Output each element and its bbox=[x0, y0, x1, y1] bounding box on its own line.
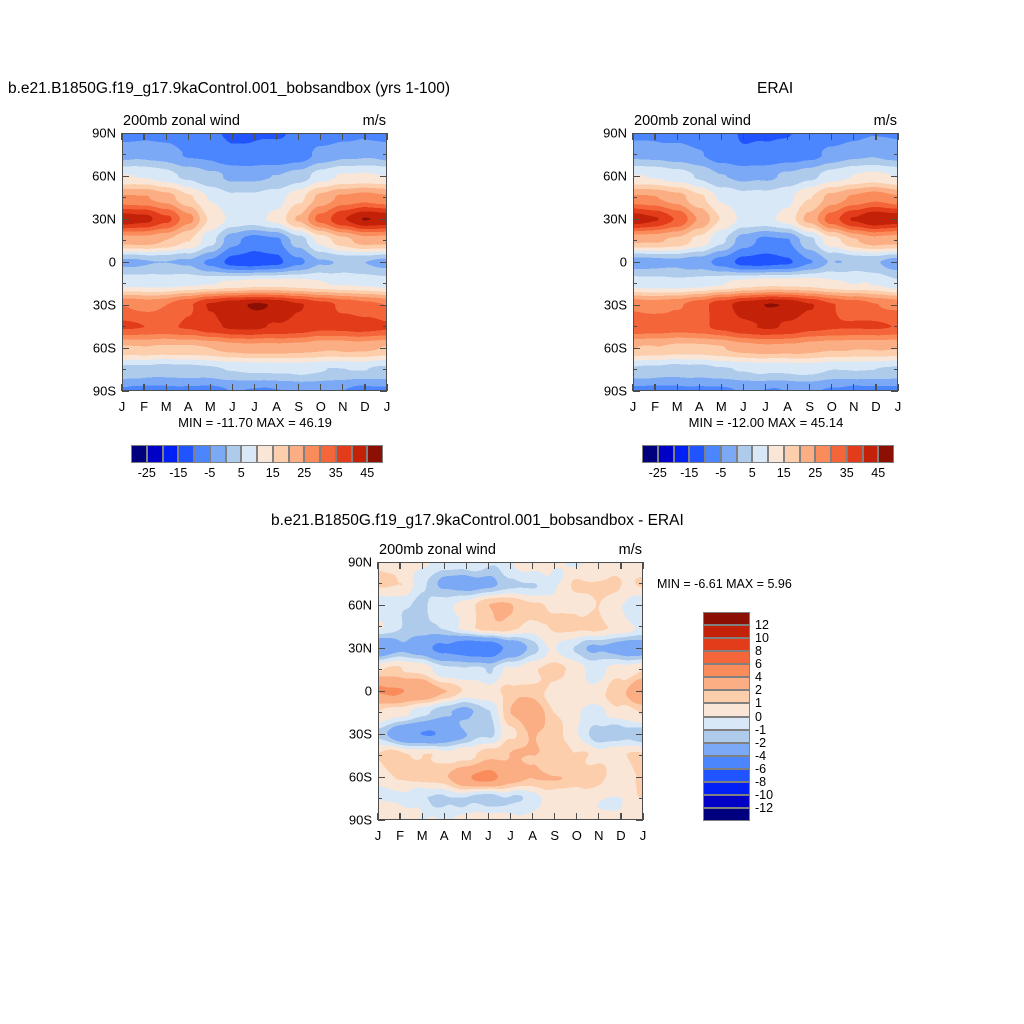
y-axis-label: 30S bbox=[591, 298, 627, 313]
panel-model-colorbar[interactable] bbox=[131, 445, 383, 463]
x-tick bbox=[510, 813, 511, 820]
y-axis-label: 0 bbox=[336, 684, 372, 699]
x-axis-label: A bbox=[695, 399, 704, 414]
y-tick bbox=[891, 305, 898, 306]
x-tick bbox=[488, 562, 489, 569]
x-axis-label: S bbox=[294, 399, 303, 414]
y-tick bbox=[636, 648, 643, 649]
y-axis-label: 60S bbox=[336, 770, 372, 785]
x-tick bbox=[444, 562, 445, 569]
y-minor-tick bbox=[894, 154, 898, 155]
y-axis-label: 30S bbox=[336, 727, 372, 742]
x-tick bbox=[677, 384, 678, 391]
x-tick bbox=[721, 384, 722, 391]
colorbar-tick-label: 12 bbox=[755, 618, 769, 632]
y-tick bbox=[633, 219, 640, 220]
x-tick bbox=[276, 133, 277, 140]
y-minor-tick bbox=[383, 240, 387, 241]
y-tick bbox=[891, 219, 898, 220]
colorbar-tick-label: 25 bbox=[297, 466, 311, 480]
colorbar-tick-label: 0 bbox=[755, 710, 762, 724]
y-tick bbox=[122, 176, 129, 177]
colorbar-cell[interactable] bbox=[703, 782, 750, 795]
x-tick bbox=[654, 384, 655, 391]
colorbar-cell[interactable] bbox=[703, 808, 750, 821]
colorbar-tick-label: 35 bbox=[329, 466, 343, 480]
y-tick bbox=[378, 562, 385, 563]
y-tick bbox=[378, 820, 385, 821]
y-tick bbox=[891, 176, 898, 177]
colorbar-cell[interactable] bbox=[273, 445, 289, 463]
colorbar-cell[interactable] bbox=[831, 445, 847, 463]
y-axis-label: 30N bbox=[80, 212, 116, 227]
y-tick bbox=[633, 133, 640, 134]
y-minor-tick bbox=[378, 583, 382, 584]
x-tick bbox=[677, 133, 678, 140]
colorbar-cell[interactable] bbox=[703, 612, 750, 625]
y-tick bbox=[636, 691, 643, 692]
colorbar-tick-label: -25 bbox=[649, 466, 667, 480]
colorbar-tick-label: -15 bbox=[169, 466, 187, 480]
x-tick bbox=[188, 133, 189, 140]
x-tick bbox=[422, 562, 423, 569]
colorbar-tick-label: -2 bbox=[755, 736, 766, 750]
x-tick bbox=[853, 384, 854, 391]
x-tick bbox=[598, 813, 599, 820]
y-tick bbox=[122, 348, 129, 349]
colorbar-cell[interactable] bbox=[721, 445, 737, 463]
panel-obs: ERAI 200mb zonal wind m/s 90N60N30N030S6… bbox=[512, 0, 1024, 500]
x-tick bbox=[377, 562, 378, 569]
colorbar-cell[interactable] bbox=[658, 445, 674, 463]
x-tick bbox=[809, 133, 810, 140]
x-tick bbox=[121, 133, 122, 140]
y-tick bbox=[378, 734, 385, 735]
colorbar-cell[interactable] bbox=[336, 445, 352, 463]
y-tick bbox=[122, 219, 129, 220]
y-tick bbox=[378, 648, 385, 649]
y-tick bbox=[633, 348, 640, 349]
x-tick bbox=[620, 813, 621, 820]
x-axis-label: J bbox=[375, 828, 382, 843]
x-tick bbox=[188, 384, 189, 391]
y-minor-tick bbox=[639, 583, 643, 584]
colorbar-cell[interactable] bbox=[784, 445, 800, 463]
colorbar-tick-label: 5 bbox=[238, 466, 245, 480]
x-tick bbox=[743, 384, 744, 391]
x-axis-label: F bbox=[651, 399, 659, 414]
panel-obs-contour bbox=[633, 133, 898, 391]
y-minor-tick bbox=[378, 755, 382, 756]
panel-diff-title: b.e21.B1850G.f19_g17.9kaControl.001_bobs… bbox=[271, 512, 684, 530]
x-axis-label: J bbox=[895, 399, 902, 414]
panel-model-title: b.e21.B1850G.f19_g17.9kaControl.001_bobs… bbox=[8, 80, 450, 98]
y-axis-label: 60S bbox=[80, 341, 116, 356]
colorbar-tick-label: -8 bbox=[755, 775, 766, 789]
x-tick bbox=[232, 133, 233, 140]
x-axis-label: M bbox=[161, 399, 172, 414]
y-minor-tick bbox=[639, 755, 643, 756]
colorbar-cell[interactable] bbox=[210, 445, 226, 463]
colorbar-tick-label: 10 bbox=[755, 631, 769, 645]
colorbar-cell[interactable] bbox=[703, 743, 750, 756]
x-tick bbox=[298, 384, 299, 391]
x-tick bbox=[166, 133, 167, 140]
y-tick bbox=[122, 391, 129, 392]
y-minor-tick bbox=[378, 669, 382, 670]
panel-diff-colorbar[interactable] bbox=[703, 612, 750, 821]
x-tick bbox=[875, 133, 876, 140]
colorbar-cell[interactable] bbox=[689, 445, 705, 463]
panel-diff-minmax: MIN = -6.61 MAX = 5.96 bbox=[657, 577, 792, 591]
x-tick bbox=[386, 133, 387, 140]
x-tick bbox=[466, 562, 467, 569]
x-axis-label: D bbox=[360, 399, 369, 414]
colorbar-tick-label: 45 bbox=[871, 466, 885, 480]
x-tick bbox=[210, 133, 211, 140]
colorbar-cell[interactable] bbox=[703, 690, 750, 703]
y-minor-tick bbox=[639, 798, 643, 799]
x-axis-label: M bbox=[461, 828, 472, 843]
y-axis-label: 60S bbox=[591, 341, 627, 356]
y-axis-label: 90S bbox=[80, 384, 116, 399]
panel-obs-colorbar-labels: -25-15-5515253545 bbox=[642, 466, 894, 482]
panel-model-plot: 200mb zonal wind m/s 90N60N30N030S60S90S… bbox=[122, 133, 387, 391]
x-tick bbox=[598, 562, 599, 569]
x-tick bbox=[765, 384, 766, 391]
x-axis-label: F bbox=[396, 828, 404, 843]
y-tick bbox=[380, 262, 387, 263]
y-tick bbox=[633, 262, 640, 263]
y-axis-label: 60N bbox=[591, 169, 627, 184]
x-axis-label: A bbox=[440, 828, 449, 843]
x-axis-label: A bbox=[528, 828, 537, 843]
x-tick bbox=[632, 384, 633, 391]
colorbar-cell[interactable] bbox=[768, 445, 784, 463]
y-minor-tick bbox=[378, 712, 382, 713]
x-tick bbox=[576, 813, 577, 820]
panel-obs-colorbar[interactable] bbox=[642, 445, 894, 463]
colorbar-tick-label: 25 bbox=[808, 466, 822, 480]
panel-obs-header-right: m/s bbox=[874, 113, 897, 129]
y-axis-label: 90N bbox=[591, 126, 627, 141]
colorbar-cell[interactable] bbox=[241, 445, 257, 463]
y-minor-tick bbox=[639, 712, 643, 713]
colorbar-cell[interactable] bbox=[257, 445, 273, 463]
x-axis-label: O bbox=[827, 399, 837, 414]
colorbar-tick-label: 15 bbox=[777, 466, 791, 480]
x-tick bbox=[721, 133, 722, 140]
x-axis-label: M bbox=[205, 399, 216, 414]
y-minor-tick bbox=[122, 369, 126, 370]
x-axis-label: O bbox=[316, 399, 326, 414]
colorbar-tick-label: 45 bbox=[360, 466, 374, 480]
panel-model-colorbar-labels: -25-15-5515253545 bbox=[131, 466, 383, 482]
y-minor-tick bbox=[894, 197, 898, 198]
x-tick bbox=[576, 562, 577, 569]
x-axis-label: J bbox=[630, 399, 637, 414]
x-tick bbox=[642, 813, 643, 820]
x-axis-label: A bbox=[783, 399, 792, 414]
colorbar-cell[interactable] bbox=[304, 445, 320, 463]
x-axis-label: N bbox=[849, 399, 858, 414]
y-tick bbox=[380, 305, 387, 306]
y-tick bbox=[633, 305, 640, 306]
x-axis-label: M bbox=[672, 399, 683, 414]
colorbar-cell[interactable] bbox=[737, 445, 753, 463]
x-tick bbox=[554, 813, 555, 820]
y-tick bbox=[378, 777, 385, 778]
x-tick bbox=[143, 133, 144, 140]
y-minor-tick bbox=[122, 326, 126, 327]
y-minor-tick bbox=[633, 240, 637, 241]
y-minor-tick bbox=[383, 154, 387, 155]
x-axis-label: M bbox=[716, 399, 727, 414]
colorbar-tick-label: -10 bbox=[755, 788, 773, 802]
x-axis-label: A bbox=[272, 399, 281, 414]
x-tick bbox=[210, 384, 211, 391]
colorbar-tick-label: 5 bbox=[749, 466, 756, 480]
colorbar-tick-label: 6 bbox=[755, 657, 762, 671]
y-minor-tick bbox=[894, 240, 898, 241]
colorbar-tick-label: -25 bbox=[138, 466, 156, 480]
colorbar-cell[interactable] bbox=[320, 445, 336, 463]
colorbar-cell[interactable] bbox=[705, 445, 721, 463]
colorbar-cell[interactable] bbox=[642, 445, 658, 463]
colorbar-cell[interactable] bbox=[703, 651, 750, 664]
x-axis-label: J bbox=[384, 399, 391, 414]
y-minor-tick bbox=[383, 369, 387, 370]
x-tick bbox=[897, 384, 898, 391]
colorbar-cell[interactable] bbox=[178, 445, 194, 463]
colorbar-cell[interactable] bbox=[815, 445, 831, 463]
x-tick bbox=[320, 133, 321, 140]
colorbar-tick-label: 4 bbox=[755, 670, 762, 684]
x-axis-label: O bbox=[572, 828, 582, 843]
y-minor-tick bbox=[383, 283, 387, 284]
y-minor-tick bbox=[378, 798, 382, 799]
panel-obs-plot: 200mb zonal wind m/s 90N60N30N030S60S90S… bbox=[633, 133, 898, 391]
colorbar-cell[interactable] bbox=[703, 730, 750, 743]
x-axis-label: F bbox=[140, 399, 148, 414]
colorbar-cell[interactable] bbox=[703, 795, 750, 808]
x-tick bbox=[620, 562, 621, 569]
x-tick bbox=[488, 813, 489, 820]
x-tick bbox=[377, 813, 378, 820]
panel-diff-header-right: m/s bbox=[619, 542, 642, 558]
x-tick bbox=[386, 384, 387, 391]
colorbar-tick-label: -12 bbox=[755, 801, 773, 815]
x-axis-label: S bbox=[550, 828, 559, 843]
colorbar-cell[interactable] bbox=[163, 445, 179, 463]
x-axis-label: J bbox=[119, 399, 126, 414]
colorbar-cell[interactable] bbox=[367, 445, 383, 463]
x-tick bbox=[422, 813, 423, 820]
y-axis-label: 90N bbox=[80, 126, 116, 141]
y-minor-tick bbox=[639, 626, 643, 627]
colorbar-cell[interactable] bbox=[289, 445, 305, 463]
y-axis-label: 90S bbox=[336, 813, 372, 828]
x-tick bbox=[342, 384, 343, 391]
y-tick bbox=[122, 133, 129, 134]
x-tick bbox=[166, 384, 167, 391]
panel-obs-minmax: MIN = -12.00 MAX = 45.14 bbox=[689, 415, 844, 430]
y-axis-label: 30N bbox=[591, 212, 627, 227]
y-tick bbox=[122, 262, 129, 263]
y-minor-tick bbox=[383, 197, 387, 198]
y-tick bbox=[636, 605, 643, 606]
x-axis-label: J bbox=[740, 399, 747, 414]
y-minor-tick bbox=[639, 669, 643, 670]
colorbar-cell[interactable] bbox=[863, 445, 879, 463]
y-minor-tick bbox=[894, 326, 898, 327]
y-tick bbox=[378, 691, 385, 692]
colorbar-cell[interactable] bbox=[703, 625, 750, 638]
colorbar-cell[interactable] bbox=[703, 664, 750, 677]
x-tick bbox=[532, 562, 533, 569]
y-tick bbox=[380, 219, 387, 220]
x-axis-label: A bbox=[184, 399, 193, 414]
x-tick bbox=[298, 133, 299, 140]
x-tick bbox=[853, 133, 854, 140]
colorbar-tick-label: 15 bbox=[266, 466, 280, 480]
y-minor-tick bbox=[383, 326, 387, 327]
panel-obs-header-left: 200mb zonal wind bbox=[634, 113, 751, 129]
x-axis-label: J bbox=[640, 828, 647, 843]
x-tick bbox=[642, 562, 643, 569]
y-tick bbox=[122, 305, 129, 306]
colorbar-tick-label: 8 bbox=[755, 644, 762, 658]
y-tick bbox=[891, 348, 898, 349]
x-axis-label: J bbox=[485, 828, 492, 843]
y-axis-label: 0 bbox=[80, 255, 116, 270]
y-minor-tick bbox=[633, 283, 637, 284]
y-minor-tick bbox=[122, 154, 126, 155]
y-minor-tick bbox=[633, 197, 637, 198]
x-tick bbox=[554, 562, 555, 569]
y-minor-tick bbox=[894, 283, 898, 284]
y-tick bbox=[633, 391, 640, 392]
x-tick bbox=[320, 384, 321, 391]
y-tick bbox=[636, 777, 643, 778]
y-axis-label: 90N bbox=[336, 555, 372, 570]
colorbar-tick-label: -5 bbox=[204, 466, 215, 480]
x-axis-label: J bbox=[229, 399, 236, 414]
x-tick bbox=[699, 384, 700, 391]
panel-model-header-right: m/s bbox=[363, 113, 386, 129]
colorbar-cell[interactable] bbox=[878, 445, 894, 463]
x-axis-label: J bbox=[507, 828, 514, 843]
panel-model-minmax: MIN = -11.70 MAX = 46.19 bbox=[178, 415, 332, 430]
colorbar-cell[interactable] bbox=[703, 717, 750, 730]
x-axis-label: D bbox=[616, 828, 625, 843]
x-tick bbox=[232, 384, 233, 391]
colorbar-cell[interactable] bbox=[800, 445, 816, 463]
y-axis-label: 60N bbox=[336, 598, 372, 613]
x-tick bbox=[254, 384, 255, 391]
x-tick bbox=[364, 133, 365, 140]
y-tick bbox=[380, 176, 387, 177]
y-tick bbox=[636, 734, 643, 735]
x-tick bbox=[787, 384, 788, 391]
colorbar-cell[interactable] bbox=[226, 445, 242, 463]
y-tick bbox=[891, 262, 898, 263]
colorbar-cell[interactable] bbox=[147, 445, 163, 463]
panel-obs-title: ERAI bbox=[757, 80, 793, 98]
y-minor-tick bbox=[894, 369, 898, 370]
panel-model-contour bbox=[122, 133, 387, 391]
x-axis-label: J bbox=[251, 399, 258, 414]
x-tick bbox=[254, 133, 255, 140]
x-tick bbox=[444, 813, 445, 820]
colorbar-cell[interactable] bbox=[674, 445, 690, 463]
x-axis-label: J bbox=[762, 399, 769, 414]
colorbar-cell[interactable] bbox=[752, 445, 768, 463]
x-tick bbox=[743, 133, 744, 140]
x-tick bbox=[510, 562, 511, 569]
x-tick bbox=[466, 813, 467, 820]
x-axis-label: D bbox=[871, 399, 880, 414]
colorbar-tick-label: -4 bbox=[755, 749, 766, 763]
x-tick bbox=[897, 133, 898, 140]
colorbar-tick-label: -1 bbox=[755, 723, 766, 737]
colorbar-cell[interactable] bbox=[352, 445, 368, 463]
x-tick bbox=[632, 133, 633, 140]
y-tick bbox=[380, 348, 387, 349]
x-tick bbox=[399, 562, 400, 569]
colorbar-tick-label: -6 bbox=[755, 762, 766, 776]
colorbar-cell[interactable] bbox=[703, 703, 750, 716]
y-axis-label: 60N bbox=[80, 169, 116, 184]
y-minor-tick bbox=[633, 326, 637, 327]
colorbar-cell[interactable] bbox=[703, 756, 750, 769]
x-tick bbox=[699, 133, 700, 140]
x-tick bbox=[831, 384, 832, 391]
panel-diff-plot: 200mb zonal wind m/s 90N60N30N030S60S90S… bbox=[378, 562, 643, 820]
panel-model: b.e21.B1850G.f19_g17.9kaControl.001_bobs… bbox=[0, 0, 512, 500]
colorbar-tick-label: -5 bbox=[715, 466, 726, 480]
y-minor-tick bbox=[122, 240, 126, 241]
x-axis-label: M bbox=[417, 828, 428, 843]
colorbar-cell[interactable] bbox=[703, 769, 750, 782]
panel-diff-contour bbox=[378, 562, 643, 820]
x-axis-label: N bbox=[594, 828, 603, 843]
x-axis-label: S bbox=[805, 399, 814, 414]
x-tick bbox=[765, 133, 766, 140]
y-axis-label: 30S bbox=[80, 298, 116, 313]
y-minor-tick bbox=[122, 283, 126, 284]
y-minor-tick bbox=[378, 626, 382, 627]
x-axis-label: N bbox=[338, 399, 347, 414]
x-tick bbox=[809, 384, 810, 391]
colorbar-cell[interactable] bbox=[703, 677, 750, 690]
colorbar-cell[interactable] bbox=[131, 445, 147, 463]
y-minor-tick bbox=[122, 197, 126, 198]
x-tick bbox=[875, 384, 876, 391]
colorbar-tick-label: 2 bbox=[755, 683, 762, 697]
panel-diff-header-left: 200mb zonal wind bbox=[379, 542, 496, 558]
colorbar-cell[interactable] bbox=[847, 445, 863, 463]
y-axis-label: 90S bbox=[591, 384, 627, 399]
colorbar-cell[interactable] bbox=[194, 445, 210, 463]
panel-diff: b.e21.B1850G.f19_g17.9kaControl.001_bobs… bbox=[0, 500, 1024, 900]
colorbar-cell[interactable] bbox=[703, 638, 750, 651]
panel-model-header-left: 200mb zonal wind bbox=[123, 113, 240, 129]
x-tick bbox=[831, 133, 832, 140]
panel-diff-colorbar-labels: 1210864210-1-2-4-6-8-10-12 bbox=[755, 612, 795, 821]
colorbar-tick-label: 1 bbox=[755, 696, 762, 710]
y-minor-tick bbox=[633, 369, 637, 370]
